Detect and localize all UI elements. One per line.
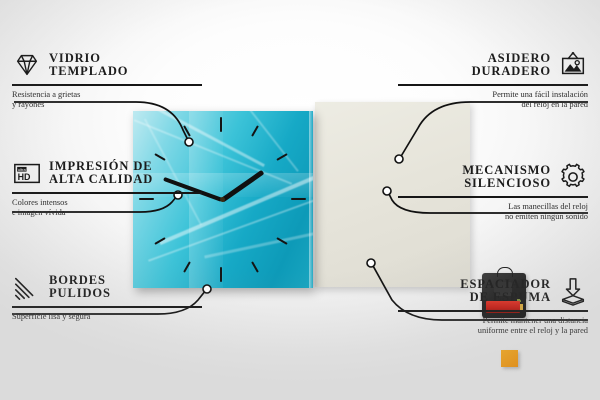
clock-tick [251, 125, 259, 136]
divider [12, 306, 202, 308]
gear-icon [558, 162, 588, 192]
feature-title: BORDES PULIDOS [49, 274, 111, 301]
divider [12, 84, 202, 86]
feature-impresion-alta-calidad: ultra HD IMPRESIÓN DE ALTA CALIDAD Color… [12, 158, 202, 219]
clock-hand-hub [220, 197, 225, 202]
clock-tick [220, 267, 222, 282]
foam-spacer-sample [501, 350, 518, 367]
hanging-frame-icon [558, 50, 588, 80]
clock-tick [220, 117, 222, 132]
feature-bordes-pulidos: BORDES PULIDOS Superficie lisa y segura [12, 272, 202, 322]
svg-text:HD: HD [18, 172, 31, 182]
diamond-icon [12, 50, 42, 80]
feature-description: Permite una fácil instalación del reloj … [398, 90, 588, 111]
feature-description: Resistencia a grietas y rayones [12, 90, 202, 111]
feature-vidrio-templado: VIDRIO TEMPLADO Resistencia a grietas y … [12, 50, 202, 111]
feature-description: Superficie lisa y segura [12, 312, 202, 323]
feature-asidero-duradero: ASIDERO DURADERO Permite una fácil insta… [398, 50, 588, 111]
divider [398, 196, 588, 198]
clock-tick [291, 198, 306, 200]
feature-title: ASIDERO DURADERO [472, 52, 551, 79]
feature-description: Permite mantener una distancia uniforme … [398, 316, 588, 337]
feature-espaciador-de-espuma: ESPACIADOR DE ESPUMA Permite mantener un… [398, 276, 588, 337]
divider [12, 192, 202, 194]
feature-title: IMPRESIÓN DE ALTA CALIDAD [49, 160, 153, 187]
foam-spacer-icon [558, 276, 588, 306]
feature-mecanismo-silencioso: MECANISMO SILENCIOSO Las manecillas del … [398, 162, 588, 223]
feature-title: MECANISMO SILENCIOSO [462, 164, 551, 191]
ultra-hd-icon: ultra HD [12, 158, 42, 188]
feature-description: Las manecillas del reloj no emiten ningú… [398, 202, 588, 223]
clock-tick [251, 261, 259, 272]
feature-title: VIDRIO TEMPLADO [49, 52, 128, 79]
divider [398, 310, 588, 312]
infographic-canvas: VIDRIO TEMPLADO Resistencia a grietas y … [0, 0, 600, 400]
feature-title: ESPACIADOR DE ESPUMA [460, 278, 551, 305]
polished-edges-icon [12, 272, 42, 302]
divider [398, 84, 588, 86]
feature-description: Colores intensos e imagen vívida [12, 198, 202, 219]
